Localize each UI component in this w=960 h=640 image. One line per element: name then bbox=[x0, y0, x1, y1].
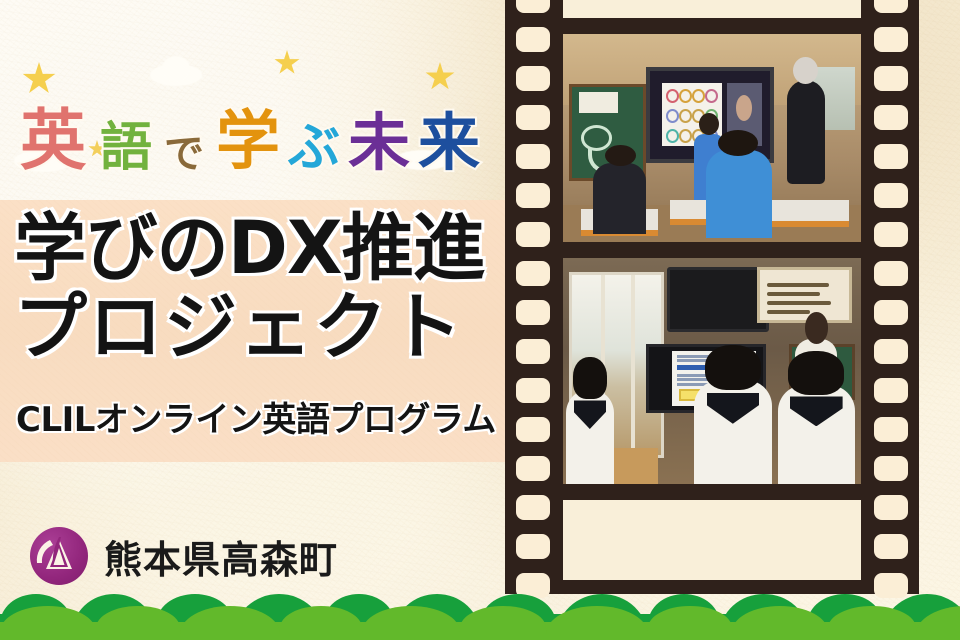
header-band: 英 語 で 学 ぶ 未 来 bbox=[0, 0, 505, 200]
page-title-line-2: プロジェクト bbox=[14, 291, 506, 364]
headline-char-go: 語 bbox=[100, 122, 152, 174]
filmstrip-empty-frame-top bbox=[563, 0, 861, 18]
photo-junior-high-classroom bbox=[563, 258, 861, 484]
filmstrip-photo-1 bbox=[563, 34, 861, 242]
filmstrip bbox=[505, 0, 919, 594]
student-figure bbox=[566, 389, 614, 484]
cloud-icon bbox=[162, 56, 190, 82]
left-panel: 英 語 で 学 ぶ 未 来 学びのDX推進 プロジェクト CLILオンライン英語… bbox=[0, 0, 505, 640]
hill-row-front bbox=[0, 606, 960, 640]
filmstrip-photo-2 bbox=[563, 258, 861, 484]
student-figure bbox=[694, 380, 771, 484]
headline-char-de: で bbox=[164, 134, 204, 174]
headline-char-mi: 未 bbox=[348, 112, 410, 174]
town-name-label: 熊本県高森町 bbox=[104, 529, 338, 584]
page-subtitle: CLILオンライン英語プログラム bbox=[16, 392, 506, 441]
filmstrip-empty-frame-bottom bbox=[563, 500, 861, 580]
green-hills-decoration bbox=[0, 582, 960, 640]
town-credit: 熊本県高森町 bbox=[30, 527, 338, 585]
filmstrip-perforations-right bbox=[874, 0, 908, 594]
headline-char-rai: 来 bbox=[418, 112, 480, 174]
headline-char-ga: 学 bbox=[216, 110, 280, 174]
star-icon bbox=[274, 50, 300, 76]
page-title-line-1: 学びのDX推進 bbox=[14, 212, 501, 285]
filmstrip-perforations-left bbox=[516, 0, 550, 594]
photo-elementary-classroom bbox=[563, 34, 861, 242]
decorative-headline: 英 語 で 学 ぶ 未 来 bbox=[18, 82, 488, 174]
page-title: 学びのDX推進 プロジェクト bbox=[14, 212, 506, 364]
headline-char-bu: ぶ bbox=[288, 122, 340, 174]
student-figure bbox=[778, 385, 855, 484]
headline-char-ei: 英 bbox=[20, 108, 86, 174]
takamori-town-logo-icon bbox=[30, 527, 88, 585]
poster-canvas: 英 語 で 学 ぶ 未 来 学びのDX推進 プロジェクト CLILオンライン英語… bbox=[0, 0, 960, 640]
